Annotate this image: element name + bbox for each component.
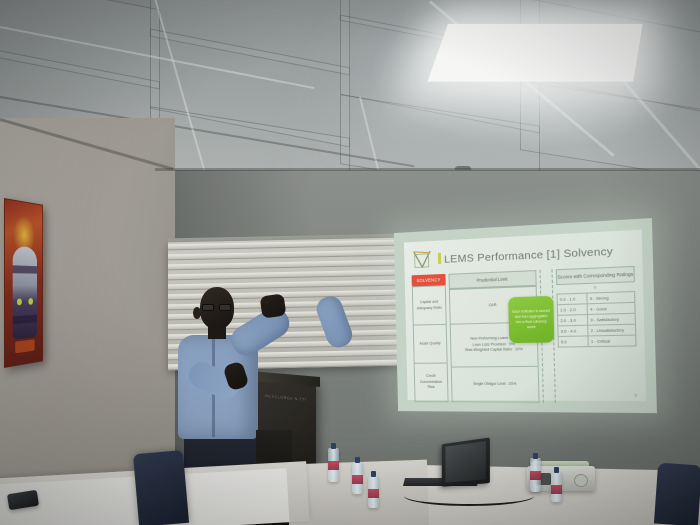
presenter-fist — [260, 293, 287, 318]
water-bottle — [368, 476, 379, 508]
aggregation-callout: Each indicator is scored and then aggreg… — [508, 296, 554, 343]
row-label: Credit Concentration Risk — [414, 364, 449, 403]
checkmark-logo — [411, 248, 433, 271]
projector-vent — [574, 474, 588, 487]
laptop-screen — [445, 441, 485, 482]
eyeglasses — [202, 304, 232, 311]
water-bottle — [352, 462, 363, 494]
prudential-cell: Single Obligor Limit : 20% — [451, 367, 540, 403]
rating-range: 2.0 - 3.0 — [557, 315, 588, 326]
rating-range: 1.0 - 2.0 — [557, 304, 588, 316]
rating-range: 0.0 - 1.0 — [556, 293, 587, 306]
ratings-column: Scores with Corresponding Ratings ▿ 0.0 … — [556, 266, 638, 403]
rating-range: 3.0 - 4.0 — [557, 326, 588, 337]
slide-row-label-column: SOLVENCY Capital and Adequacy Ratio Asse… — [412, 274, 449, 402]
water-bottle — [551, 472, 562, 502]
table-row: 5.0 1 - Critical — [558, 336, 637, 348]
rating-label: 1 - Critical — [589, 336, 637, 348]
laptop[interactable] — [442, 437, 490, 486]
rating-range: 5.0 — [558, 336, 589, 347]
conference-chair — [654, 463, 700, 525]
slide-title-text: LEMS Performance [1] Solvency — [444, 245, 613, 266]
room-photo: LEMS Performance [1] Solvency SOLVENCY C… — [0, 0, 700, 525]
slide-page-number: 5 — [634, 393, 636, 397]
rating-label: 2 - Unsatisfactory — [588, 325, 636, 337]
water-bottle — [530, 458, 541, 492]
title-bullet — [438, 252, 441, 263]
row-label: Capital and Adequacy Ratio — [412, 285, 447, 326]
led-ceiling-light-panel — [427, 24, 642, 82]
conference-chair — [133, 450, 189, 525]
presentation-slide: LEMS Performance [1] Solvency SOLVENCY C… — [404, 230, 646, 401]
slide-title: LEMS Performance [1] Solvency — [438, 244, 613, 266]
projection-screen: LEMS Performance [1] Solvency SOLVENCY C… — [394, 218, 657, 413]
row-label: Asset Quality — [413, 325, 448, 364]
decorative-wall-painting — [4, 198, 43, 368]
water-bottle — [328, 448, 339, 482]
